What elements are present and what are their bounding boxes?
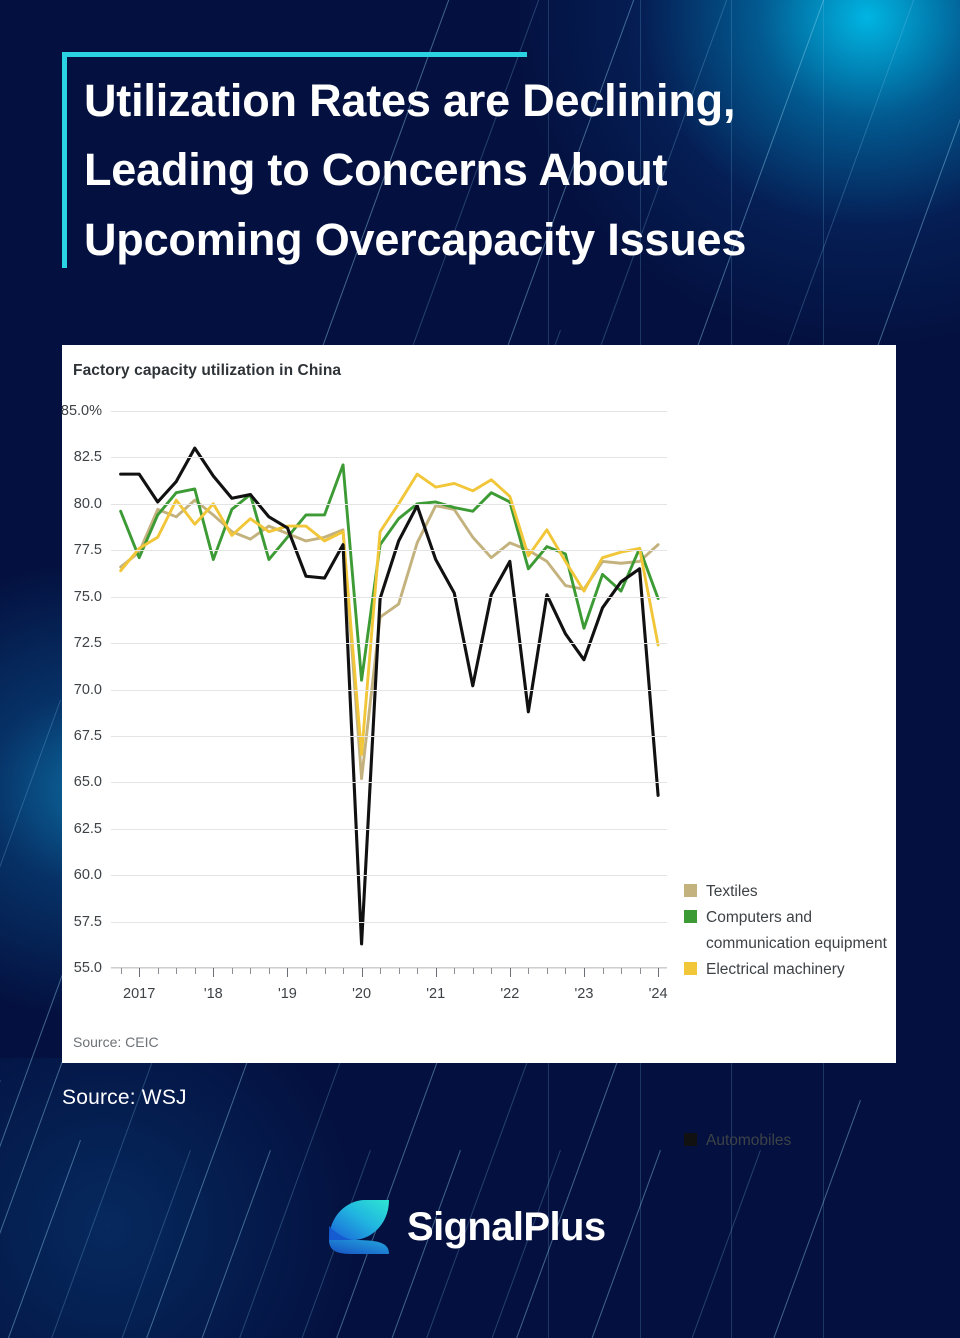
y-axis-tick-label: 62.5 [74, 821, 102, 837]
x-axis-tick-mark [176, 968, 177, 974]
legend-label-automobiles: Automobiles [706, 1128, 791, 1153]
x-axis-tick-mark [121, 968, 122, 974]
x-axis-tick-mark [325, 968, 326, 974]
legend-label: Computers and communication equipment [706, 905, 894, 956]
grid-line-y [111, 736, 667, 737]
page-title: Utilization Rates are Declining, Leading… [84, 52, 862, 274]
bg-diagonal-line-14 [174, 1150, 271, 1338]
y-axis-tick-label: 72.5 [74, 635, 102, 651]
chart-plot-area: 85.0%82.580.077.575.072.570.067.565.062.… [111, 411, 667, 968]
x-axis-tick-label: 2017 [123, 986, 155, 1002]
grid-line-y [111, 690, 667, 691]
x-axis-tick-mark [603, 968, 604, 974]
grid-line-y [111, 457, 667, 458]
x-axis-tick-mark [139, 968, 140, 977]
x-axis-tick-label: '23 [575, 986, 594, 1002]
x-axis-tick-mark [640, 968, 641, 974]
x-axis-tick-mark [306, 968, 307, 974]
grid-line-y [111, 504, 667, 505]
grid-line-y [111, 643, 667, 644]
y-axis-tick-label: 55.0 [74, 960, 102, 976]
x-axis-tick-mark [269, 968, 270, 974]
grid-line-y [111, 782, 667, 783]
brand-name: SignalPlus [407, 1205, 606, 1250]
x-axis-tick-mark [213, 968, 214, 977]
x-axis-tick-mark [528, 968, 529, 974]
x-axis-tick-mark [250, 968, 251, 974]
legend-label: Textiles [706, 879, 758, 904]
bg-diagonal-line-12 [0, 1140, 81, 1338]
y-axis-tick-label: 80.0 [74, 496, 102, 512]
grid-line-y [111, 550, 667, 551]
y-axis-tick-label: 85.0% [61, 403, 102, 419]
x-axis-tick-mark [454, 968, 455, 974]
legend-entry-automobiles: Automobiles [684, 1128, 791, 1153]
chart-legend: TextilesComputers and communication equi… [684, 879, 894, 984]
y-axis-tick-label: 57.5 [74, 914, 102, 930]
headline-block: Utilization Rates are Declining, Leading… [62, 52, 862, 274]
x-axis-tick-mark [343, 968, 344, 974]
bg-diagonal-line-11 [0, 1080, 1, 1338]
x-axis-tick-label: '24 [649, 986, 668, 1002]
series-line-automobiles [121, 448, 658, 944]
y-axis-tick-label: 82.5 [74, 449, 102, 465]
legend-entry[interactable]: Electrical machinery [684, 957, 894, 982]
x-axis-tick-mark [417, 968, 418, 974]
x-axis-tick-label: '20 [352, 986, 371, 1002]
series-line-electrical [121, 474, 658, 754]
chart-source: Source: CEIC [73, 1034, 159, 1050]
x-axis-tick-label: '19 [278, 986, 297, 1002]
grid-line-y [111, 597, 667, 598]
y-axis-tick-label: 67.5 [74, 728, 102, 744]
chart-title: Factory capacity utilization in China [73, 362, 341, 380]
bg-diagonal-line-13 [87, 1150, 191, 1338]
x-axis-tick-mark [510, 968, 511, 977]
y-axis-tick-label: 77.5 [74, 542, 102, 558]
x-axis-tick-mark [473, 968, 474, 974]
chart-card: Factory capacity utilization in China 85… [62, 345, 896, 1063]
legend-swatch [684, 884, 697, 897]
grid-line-y [111, 829, 667, 830]
x-axis-tick-mark [158, 968, 159, 974]
y-axis-tick-label: 65.0 [74, 774, 102, 790]
bg-diagonal-line-9 [0, 700, 61, 1338]
y-axis-tick-label: 75.0 [74, 589, 102, 605]
legend-label: Electrical machinery [706, 957, 845, 982]
page-source: Source: WSJ [62, 1086, 187, 1110]
x-axis-tick-mark [362, 968, 363, 977]
bg-diagonal-line-19 [657, 1150, 761, 1338]
brand-logo: SignalPlus [325, 1196, 606, 1258]
x-axis-tick-label: '22 [500, 986, 519, 1002]
x-axis-tick-mark [547, 968, 548, 974]
grid-line-y [111, 875, 667, 876]
x-axis-tick-mark [565, 968, 566, 974]
x-axis-tick-label: '18 [204, 986, 223, 1002]
accent-bar-left [62, 52, 67, 268]
signalplus-wave-icon [325, 1196, 393, 1258]
x-axis-tick-mark [399, 968, 400, 974]
grid-line-y [111, 922, 667, 923]
legend-entry[interactable]: Computers and communication equipment [684, 905, 894, 956]
accent-bar-top [62, 52, 527, 57]
legend-entry[interactable]: Textiles [684, 879, 894, 904]
x-axis-tick-mark [232, 968, 233, 974]
x-axis-tick-mark [621, 968, 622, 974]
poster-root: Utilization Rates are Declining, Leading… [0, 0, 960, 1338]
legend-swatch-automobiles [684, 1133, 697, 1146]
y-axis-tick-label: 70.0 [74, 682, 102, 698]
legend-swatch [684, 910, 697, 923]
x-axis-tick-label: '21 [426, 986, 445, 1002]
x-axis-tick-mark [436, 968, 437, 977]
x-axis-tick-mark [195, 968, 196, 974]
grid-line-y [111, 411, 667, 412]
x-axis-tick-mark [491, 968, 492, 974]
y-axis-tick-label: 60.0 [74, 867, 102, 883]
x-axis-tick-mark [584, 968, 585, 977]
legend-swatch [684, 962, 697, 975]
x-axis-tick-mark [287, 968, 288, 977]
x-axis-tick-mark [380, 968, 381, 974]
x-axis-tick-mark [658, 968, 659, 977]
